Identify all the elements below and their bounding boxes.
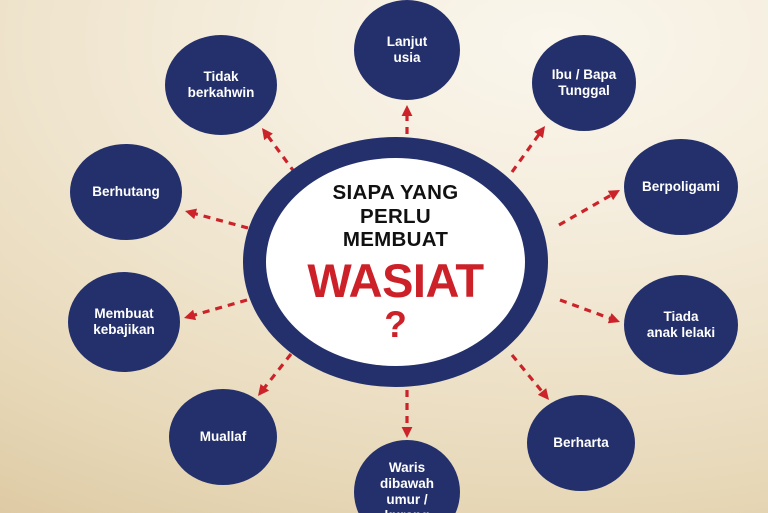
node-tidak-berkahwin[interactable]: Tidak berkahwin (165, 35, 277, 135)
arrow-to-ibu-bapa-tunggal (512, 126, 545, 172)
arrow-head-icon (402, 105, 413, 116)
node-berpoligami[interactable]: Berpoligami (624, 139, 738, 235)
center-question-mark: ? (384, 306, 407, 343)
center-heading: SIAPA YANG PERLU MEMBUAT (332, 181, 458, 252)
arrow-head-icon (608, 313, 620, 323)
arrow-head-icon (538, 388, 549, 400)
arrow-head-icon (262, 128, 273, 140)
arrow-head-icon (258, 384, 269, 396)
node-membuat-kebajikan[interactable]: Membuat kebajikan (68, 272, 180, 372)
node-muallaf[interactable]: Muallaf (169, 389, 277, 485)
arrow-to-lanjut-usia (402, 105, 413, 134)
arrow-head-icon (402, 427, 413, 438)
arrow-to-muallaf (258, 354, 291, 396)
arrow-to-waris (402, 390, 413, 438)
node-lanjut-usia[interactable]: Lanjut usia (354, 0, 460, 100)
arrow-to-berhutang (185, 209, 248, 228)
wasiat-mind-map-diagram: SIAPA YANG PERLU MEMBUAT WASIAT ? Lanjut… (0, 0, 768, 513)
node-berharta[interactable]: Berharta (527, 395, 635, 491)
node-berhutang[interactable]: Berhutang (70, 144, 182, 240)
arrow-to-membuat-kebajikan (184, 300, 247, 320)
node-waris-dibawah[interactable]: Waris dibawah umur / kurang (354, 440, 460, 513)
arrow-to-tiada-anak (560, 300, 620, 323)
arrow-head-icon (185, 209, 197, 219)
arrow-to-berharta (512, 355, 549, 400)
node-ibu-bapa-tunggal[interactable]: Ibu / Bapa Tunggal (532, 35, 636, 131)
arrow-head-icon (608, 190, 620, 200)
arrow-to-tidak-berkahwin (262, 128, 295, 173)
arrow-head-icon (534, 126, 545, 138)
center-inner-circle: SIAPA YANG PERLU MEMBUAT WASIAT ? (266, 158, 525, 366)
arrow-head-icon (184, 310, 196, 320)
arrow-to-berpoligami (559, 190, 620, 225)
node-tiada-anak-lelaki[interactable]: Tiada anak lelaki (624, 275, 738, 375)
center-keyword: WASIAT (307, 257, 483, 304)
